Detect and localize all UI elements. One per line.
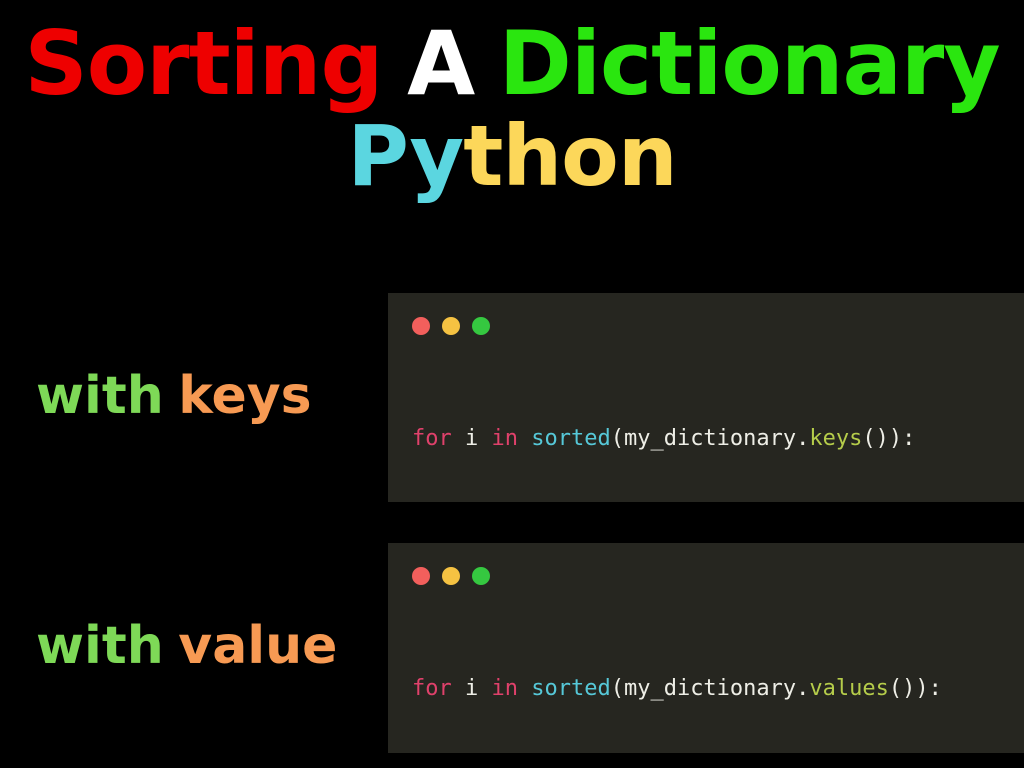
token-tail: ()): [862, 426, 915, 451]
token-attribute-keys: keys [809, 426, 862, 451]
token-keyword-in: in [492, 676, 519, 701]
token-variable-i: i [452, 426, 492, 451]
title-word-sorting: Sorting [24, 12, 382, 115]
close-dot-icon[interactable] [412, 567, 430, 585]
token-object-my-dictionary: (my_dictionary. [611, 426, 810, 451]
code-body-keys: for i in sorted(my_dictionary.keys()): p… [412, 381, 1016, 502]
token-keyword-for: for [412, 676, 452, 701]
section-label-keys: withkeys [36, 370, 312, 422]
token-attribute-values: values [809, 676, 888, 701]
token-function-sorted: sorted [518, 426, 611, 451]
label-prefix: with [36, 366, 164, 426]
code-line-for-keys: for i in sorted(my_dictionary.keys()): [412, 427, 1016, 450]
token-keyword-for: for [412, 426, 452, 451]
maximize-dot-icon[interactable] [472, 317, 490, 335]
code-window-values: for i in sorted(my_dictionary.values()):… [388, 543, 1024, 753]
code-body-values: for i in sorted(my_dictionary.values()):… [412, 631, 1016, 753]
title-word-py: Py [347, 107, 463, 205]
close-dot-icon[interactable] [412, 317, 430, 335]
title-line-1: SortingADictionary [0, 20, 1024, 108]
page-title: SortingADictionary Python [0, 20, 1024, 198]
window-controls [412, 567, 490, 585]
label-prefix: with [36, 616, 164, 676]
title-line-2: Python [0, 114, 1024, 198]
title-word-thon: thon [463, 107, 676, 205]
title-word-dictionary: Dictionary [499, 12, 1000, 115]
label-kind-value: value [178, 616, 337, 676]
code-window-keys: for i in sorted(my_dictionary.keys()): p… [388, 293, 1024, 502]
token-tail: ()): [889, 676, 942, 701]
maximize-dot-icon[interactable] [472, 567, 490, 585]
minimize-dot-icon[interactable] [442, 317, 460, 335]
code-line-for-values: for i in sorted(my_dictionary.values()): [412, 677, 1016, 700]
label-kind-keys: keys [178, 366, 311, 426]
token-keyword-in: in [492, 426, 519, 451]
token-object-my-dictionary: (my_dictionary. [611, 676, 810, 701]
token-variable-i: i [452, 676, 492, 701]
title-word-a: A [407, 12, 474, 115]
token-function-sorted: sorted [518, 676, 611, 701]
minimize-dot-icon[interactable] [442, 567, 460, 585]
section-label-value: withvalue [36, 620, 337, 672]
window-controls [412, 317, 490, 335]
